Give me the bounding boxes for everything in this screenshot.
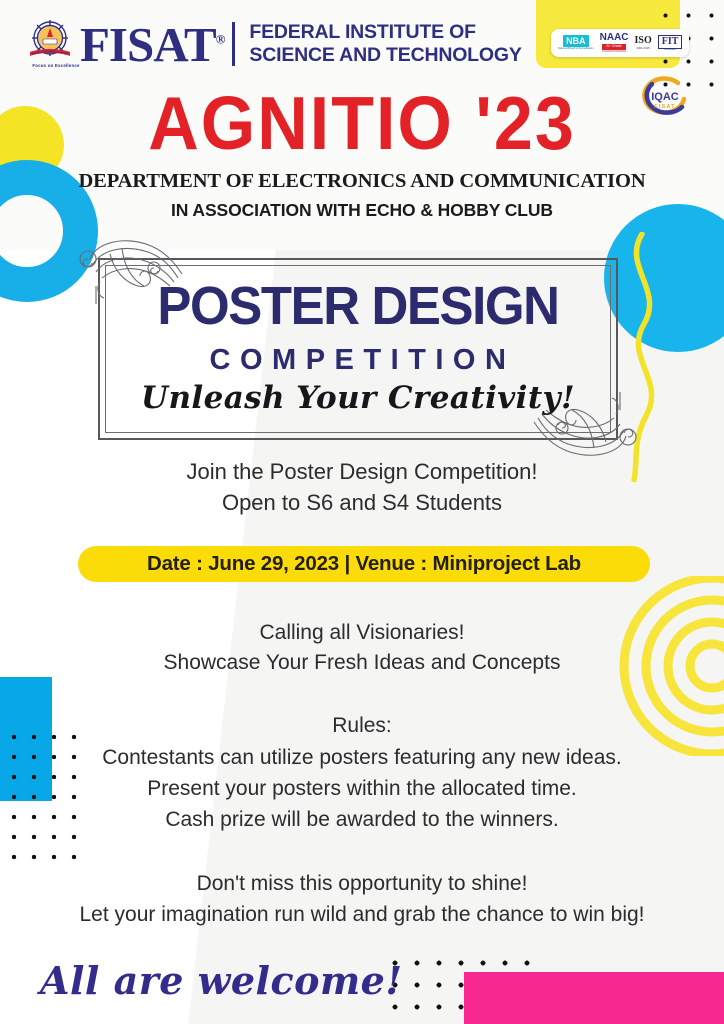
- institute-logo: Focus on Excellence FISAT® FEDERAL INSTI…: [26, 18, 522, 70]
- intro-line-1: Join the Poster Design Competition!: [0, 456, 724, 487]
- calling-line-2: Showcase Your Fresh Ideas and Concepts: [0, 648, 724, 678]
- emblem-tagline: Focus on Excellence: [26, 63, 86, 68]
- intro-text: Join the Poster Design Competition! Open…: [0, 456, 724, 518]
- institute-name-line-1: FEDERAL INSTITUTE OF: [249, 21, 521, 44]
- competition-title: POSTER DESIGN: [98, 278, 618, 332]
- poster-canvas: Focus on Excellence FISAT® FEDERAL INSTI…: [0, 0, 724, 1024]
- list-item: Cash prize will be awarded to the winner…: [0, 804, 724, 835]
- gear-emblem-icon: Focus on Excellence: [26, 18, 74, 70]
- logo-divider: [232, 22, 235, 66]
- badge-iso: ISO 9001:2015: [635, 36, 652, 50]
- calling-line-1: Calling all Visionaries!: [0, 618, 724, 648]
- badge-naac: NAAC A+ Grade Accredited Institution: [600, 33, 629, 53]
- rules-heading: Rules:: [0, 714, 724, 738]
- welcome-note: All are welcome!: [40, 958, 403, 1003]
- list-item: Present your posters within the allocate…: [0, 773, 724, 804]
- competition-subtitle: COMPETITION: [98, 346, 618, 375]
- pink-block-decoration: [464, 972, 724, 1024]
- event-title: AGNITIO '23: [0, 85, 724, 161]
- closing-text: Don't miss this opportunity to shine! Le…: [0, 868, 724, 930]
- closing-line-1: Don't miss this opportunity to shine!: [0, 868, 724, 899]
- badge-fit: FIT Accredited: [658, 35, 683, 51]
- closing-line-2: Let your imagination run wild and grab t…: [0, 899, 724, 930]
- institute-name-line-2: SCIENCE AND TECHNOLOGY: [249, 44, 521, 67]
- date-venue-text: Date : June 29, 2023 | Venue : Miniproje…: [147, 552, 581, 576]
- rules-list: Contestants can utilize posters featurin…: [0, 742, 724, 835]
- competition-tagline: Unleash Your Creativity!: [98, 380, 618, 417]
- registered-mark-icon: ®: [216, 31, 225, 46]
- fisat-wordmark: FISAT®: [80, 20, 224, 69]
- list-item: Contestants can utilize posters featurin…: [0, 742, 724, 773]
- fisat-acronym: FISAT: [80, 17, 216, 72]
- calling-text: Calling all Visionaries! Showcase Your F…: [0, 618, 724, 679]
- date-venue-banner: Date : June 29, 2023 | Venue : Miniproje…: [78, 546, 650, 582]
- accreditation-badges: NBA National Board of Accreditation NAAC…: [551, 29, 689, 57]
- poster-header: Focus on Excellence FISAT® FEDERAL INSTI…: [0, 0, 724, 86]
- association-line: IN ASSOCIATION WITH ECHO & HOBBY CLUB: [0, 200, 724, 221]
- competition-frame: POSTER DESIGN COMPETITION Unleash Your C…: [98, 258, 618, 440]
- badge-nba: NBA National Board of Accreditation: [558, 35, 594, 51]
- intro-line-2: Open to S6 and S4 Students: [0, 487, 724, 518]
- institute-fullname: FEDERAL INSTITUTE OF SCIENCE AND TECHNOL…: [249, 21, 521, 67]
- department-name: DEPARTMENT OF ELECTRONICS AND COMMUNICAT…: [0, 170, 724, 193]
